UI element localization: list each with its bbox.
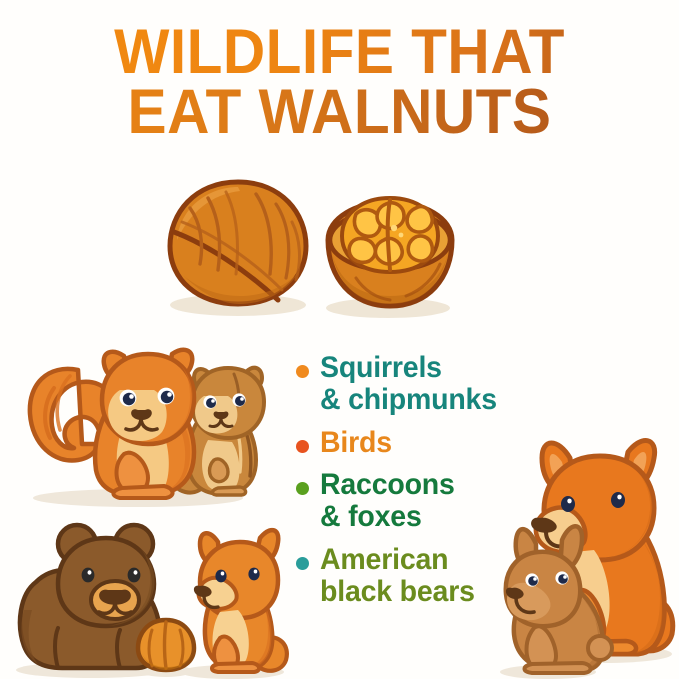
walnut-small [138,620,194,670]
bullet-dot-icon [296,557,309,570]
list-item: Squirrels & chipmunks [296,352,566,416]
list-item-label: Raccoons & foxes [320,469,455,533]
squirrel-pair-svg [18,348,298,508]
title-line-2: EAT WALNUTS [24,82,655,142]
infographic-poster: WILDLIFE THAT EAT WALNUTS [0,0,679,679]
list-item: Raccoons & foxes [296,469,566,533]
list-item-label: Birds [320,427,392,459]
whole-walnut [170,182,306,304]
list-item: American black bears [296,544,566,608]
title-line-1: WILDLIFE THAT [24,22,655,82]
bear-fox-svg [14,520,304,679]
list-item-label: Squirrels & chipmunks [320,352,497,416]
squirrel-and-chipmunk-illustration [18,348,298,508]
walnut-illustration-group [160,178,480,318]
list-item-label: American black bears [320,544,475,608]
squirrel [30,350,194,498]
bullet-dot-icon [296,482,309,495]
fox-small [194,530,287,672]
bear-walnut-fox-illustration [14,520,304,679]
bullet-dot-icon [296,440,309,453]
list-item: Birds [296,427,566,459]
bullet-dot-icon [296,365,309,378]
wildlife-list: Squirrels & chipmunks Birds Raccoons & f… [296,352,566,619]
half-walnut-kernel [328,198,452,306]
walnut-svg [160,178,480,318]
page-title: WILDLIFE THAT EAT WALNUTS [0,22,679,143]
